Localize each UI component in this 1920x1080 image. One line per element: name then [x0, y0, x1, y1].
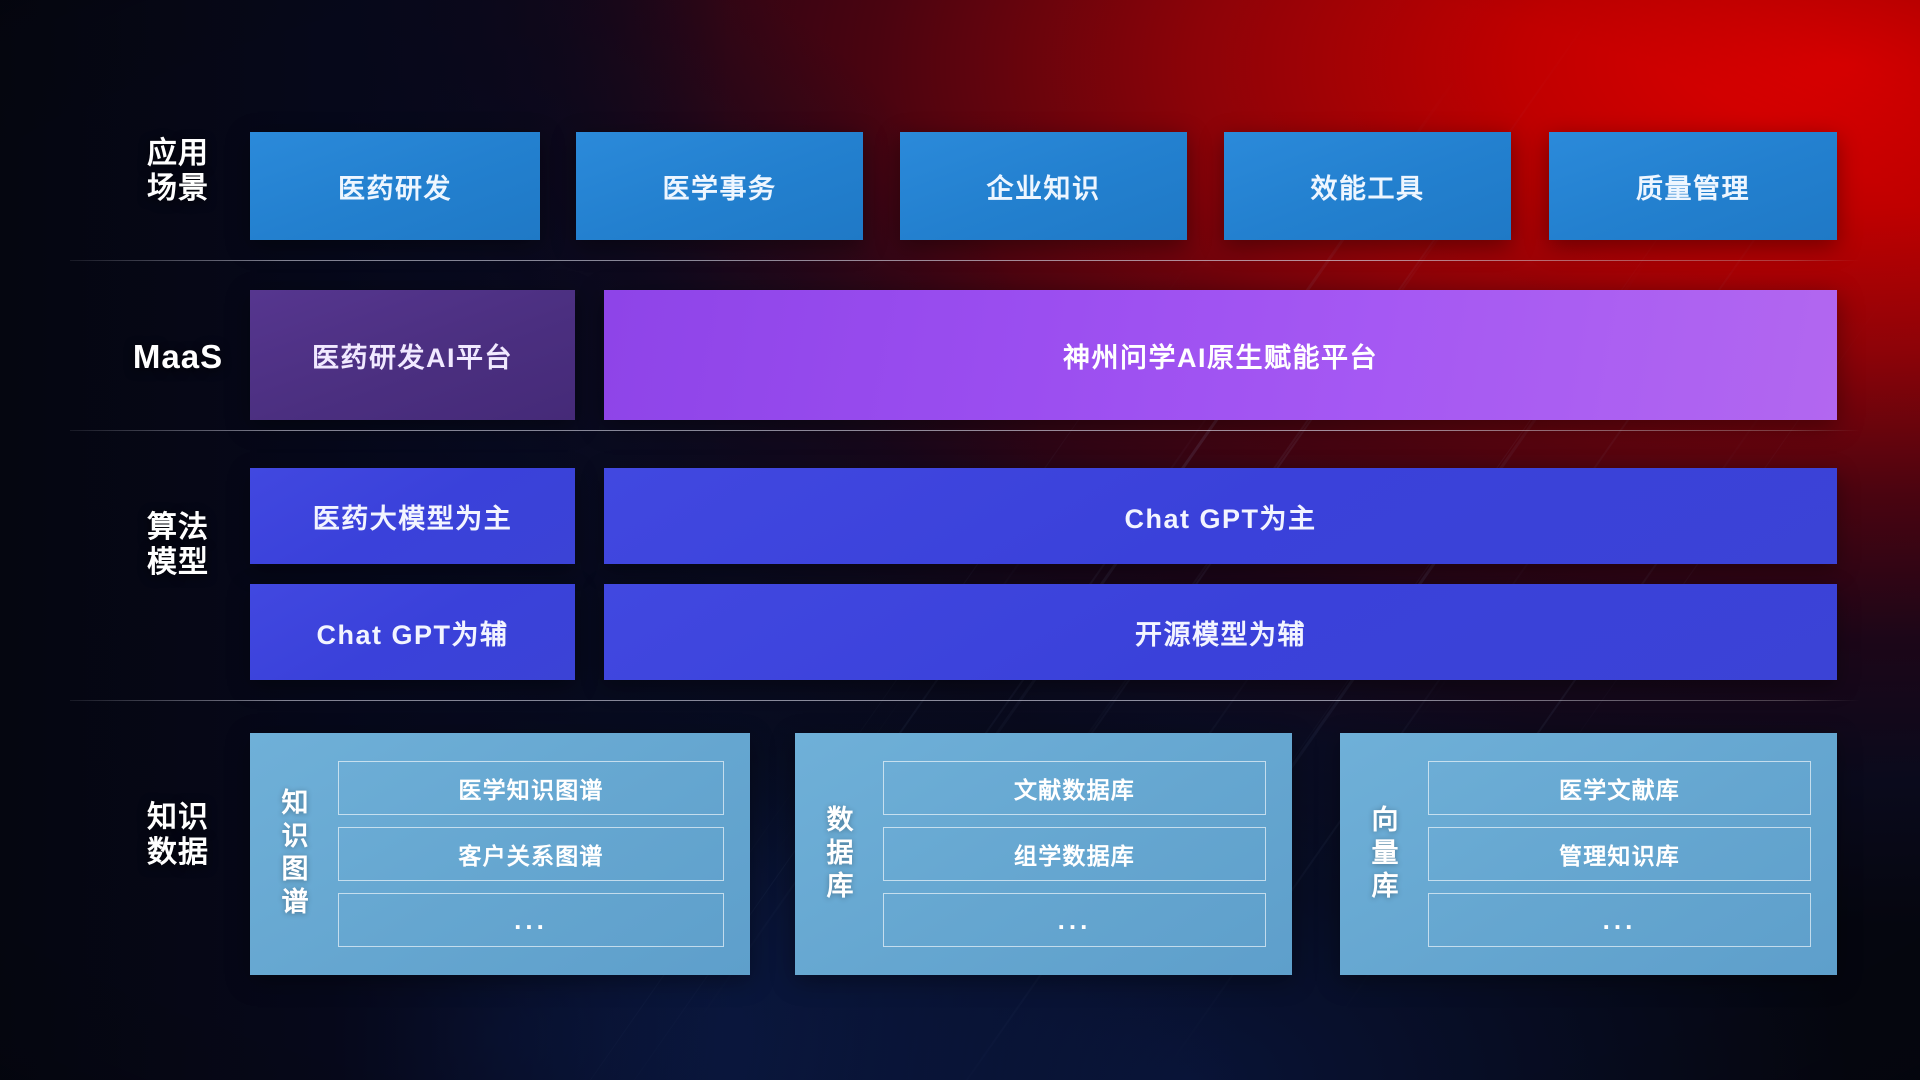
knowledge-panel-title-1: 知识图谱 — [250, 733, 334, 975]
row-label-algo-line-1: 算法 — [88, 510, 268, 545]
row-label-line-2: 场景 — [88, 171, 268, 206]
scenario-label-4: 效能工具 — [1311, 167, 1425, 206]
row-label-maas: MaaS — [88, 338, 268, 377]
knowledge-panel-items-1: 医学知识图谱 客户关系图谱 ... — [334, 733, 750, 975]
knowledge-item-2-3[interactable]: ... — [883, 893, 1266, 947]
algo-box-right-1[interactable]: Chat GPT为主 — [604, 468, 1837, 564]
knowledge-item-3-3[interactable]: ... — [1428, 893, 1811, 947]
row-label-line-1: 应用 — [88, 136, 268, 171]
knowledge-panel-items-2: 文献数据库 组学数据库 ... — [879, 733, 1292, 975]
algo-label-left-1: 医药大模型为主 — [313, 497, 513, 536]
row-label-algorithm-model: 算法 模型 — [88, 510, 268, 581]
scenario-label-5: 质量管理 — [1636, 167, 1750, 206]
knowledge-item-1-2[interactable]: 客户关系图谱 — [338, 827, 724, 881]
scenario-box-3[interactable]: 企业知识 — [900, 132, 1187, 240]
knowledge-panel-items-3: 医学文献库 管理知识库 ... — [1424, 733, 1837, 975]
knowledge-panel-knowledge-graph[interactable]: 知识图谱 医学知识图谱 客户关系图谱 ... — [250, 733, 750, 975]
knowledge-panel-title-2: 数据库 — [795, 733, 879, 975]
row-label-knowledge-line-2: 数据 — [88, 835, 268, 870]
row-label-knowledge-data: 知识 数据 — [88, 800, 268, 871]
knowledge-item-1-1[interactable]: 医学知识图谱 — [338, 761, 724, 815]
knowledge-panel-title-3: 向量库 — [1340, 733, 1424, 975]
scenario-box-5[interactable]: 质量管理 — [1549, 132, 1837, 240]
knowledge-item-2-1[interactable]: 文献数据库 — [883, 761, 1266, 815]
maas-platform-box-right[interactable]: 神州问学AI原生赋能平台 — [604, 290, 1837, 420]
scenario-box-1[interactable]: 医药研发 — [250, 132, 540, 240]
knowledge-item-2-2[interactable]: 组学数据库 — [883, 827, 1266, 881]
row-label-maas-text: MaaS — [88, 338, 268, 377]
scenario-box-4[interactable]: 效能工具 — [1224, 132, 1511, 240]
maas-platform-label-right: 神州问学AI原生赋能平台 — [1063, 336, 1378, 375]
scenario-box-2[interactable]: 医学事务 — [576, 132, 863, 240]
row-label-application-scenario: 应用 场景 — [88, 136, 268, 207]
knowledge-item-3-2[interactable]: 管理知识库 — [1428, 827, 1811, 881]
algo-box-left-2[interactable]: Chat GPT为辅 — [250, 584, 575, 680]
divider-2 — [70, 430, 1860, 431]
row-label-knowledge-line-1: 知识 — [88, 800, 268, 835]
divider-3 — [70, 700, 1860, 701]
divider-1 — [70, 260, 1860, 261]
algo-label-right-1: Chat GPT为主 — [1124, 497, 1316, 536]
algo-box-left-1[interactable]: 医药大模型为主 — [250, 468, 575, 564]
algo-label-right-2: 开源模型为辅 — [1135, 613, 1306, 652]
knowledge-panel-vector-store[interactable]: 向量库 医学文献库 管理知识库 ... — [1340, 733, 1837, 975]
knowledge-item-3-1[interactable]: 医学文献库 — [1428, 761, 1811, 815]
algo-box-right-2[interactable]: 开源模型为辅 — [604, 584, 1837, 680]
maas-platform-box-left[interactable]: 医药研发AI平台 — [250, 290, 575, 420]
algo-label-left-2: Chat GPT为辅 — [316, 613, 508, 652]
knowledge-item-1-3[interactable]: ... — [338, 893, 724, 947]
scenario-label-2: 医学事务 — [663, 167, 777, 206]
scenario-label-3: 企业知识 — [987, 167, 1101, 206]
row-label-algo-line-2: 模型 — [88, 545, 268, 580]
scenario-label-1: 医药研发 — [338, 167, 452, 206]
maas-platform-label-left: 医药研发AI平台 — [312, 336, 513, 375]
knowledge-panel-database[interactable]: 数据库 文献数据库 组学数据库 ... — [795, 733, 1292, 975]
architecture-diagram: 应用 场景 医药研发 医学事务 企业知识 效能工具 质量管理 MaaS 医药研发… — [0, 0, 1920, 1080]
